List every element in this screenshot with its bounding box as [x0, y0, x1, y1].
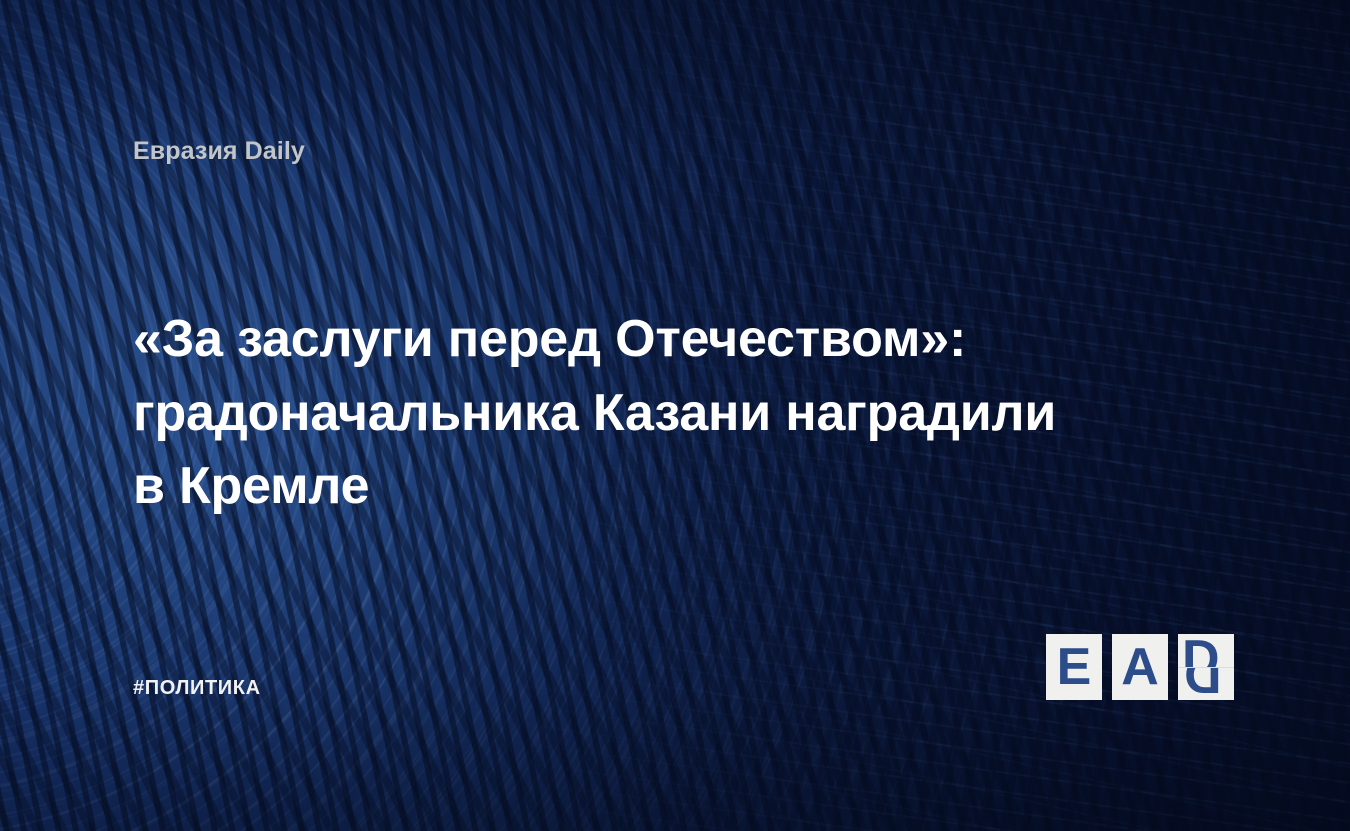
news-share-card: Евразия Daily «За заслуги перед Отечеств… — [0, 0, 1350, 831]
logo-tile-d-top-half: D — [1178, 634, 1234, 667]
headline: «За заслуги перед Отечеством»: градонача… — [133, 303, 1143, 524]
logo-tile-d-split: D D — [1178, 634, 1234, 700]
headline-line-3: в Кремле — [133, 450, 1143, 524]
logo-letter-d-bottom: D — [1184, 667, 1222, 701]
logo-letter-a: A — [1121, 641, 1159, 693]
logo-tile-e: E — [1046, 634, 1102, 700]
topic-tag[interactable]: #ПОЛИТИКА — [133, 677, 261, 700]
logo-tile-a: A — [1112, 634, 1168, 700]
eadaily-logo: E A D D — [1046, 634, 1234, 700]
headline-line-1: «За заслуги перед Отечеством»: — [133, 303, 1143, 377]
logo-tile-d-bottom-half: D — [1178, 667, 1234, 701]
headline-line-2: градоначальника Казани наградили — [133, 377, 1143, 451]
card-content: Евразия Daily «За заслуги перед Отечеств… — [0, 0, 1350, 831]
logo-letter-d-top: D — [1182, 634, 1220, 667]
logo-letter-e: E — [1057, 641, 1092, 693]
site-name: Евразия Daily — [133, 136, 305, 166]
